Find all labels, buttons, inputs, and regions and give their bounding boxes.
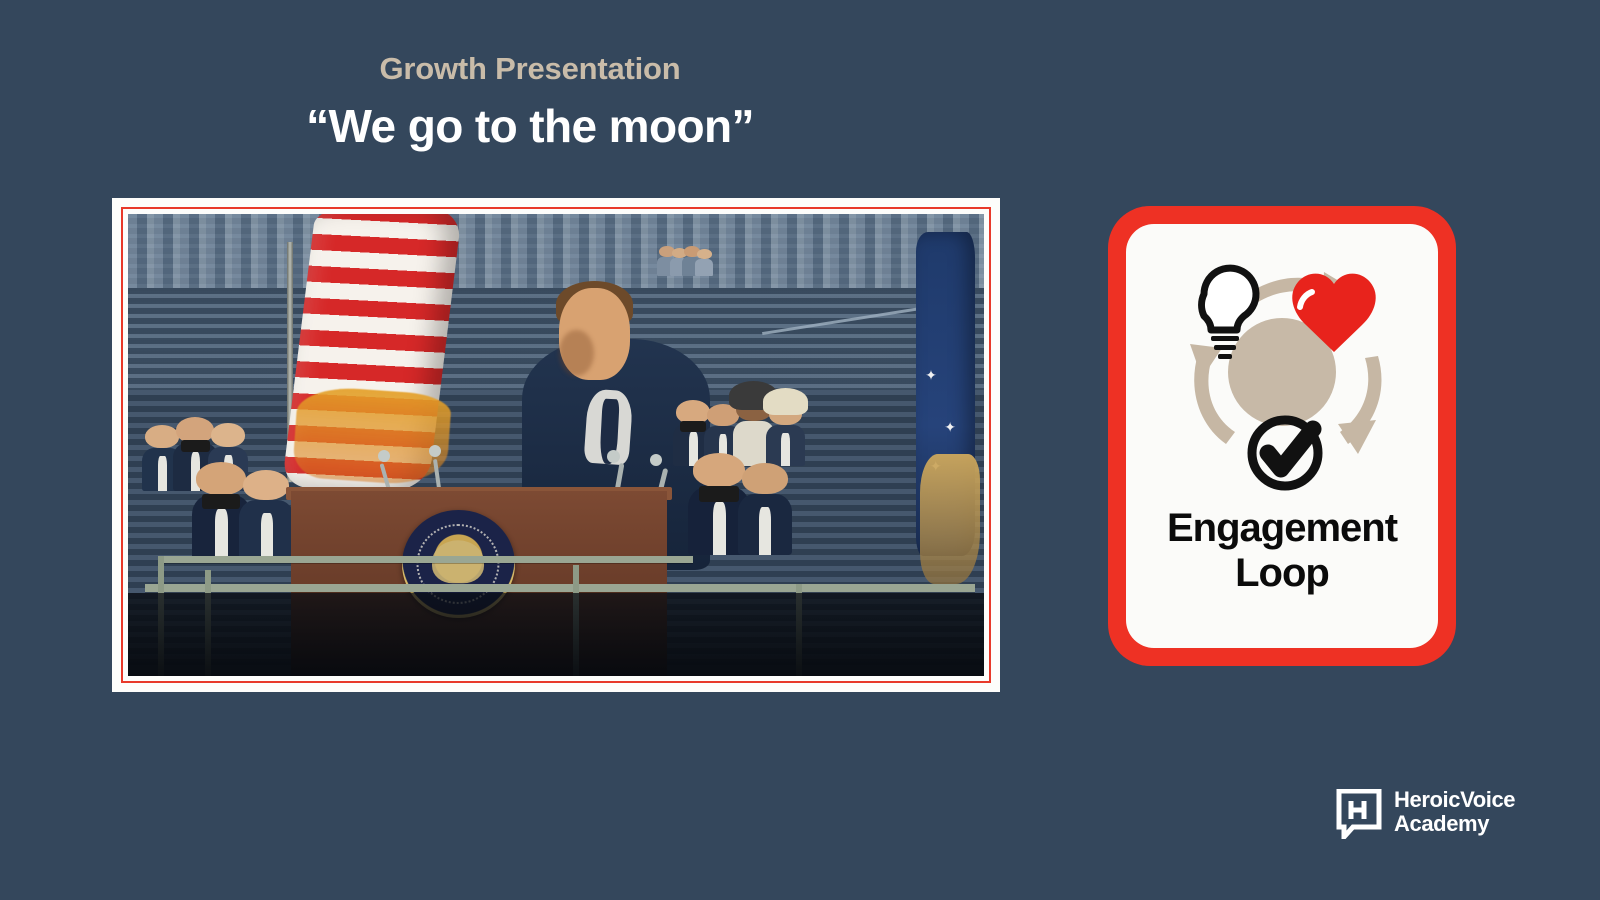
person-head <box>769 402 802 425</box>
person-head <box>196 462 246 495</box>
person-head <box>742 463 788 494</box>
slide-headline: “We go to the moon” <box>0 100 1060 153</box>
jfk-rice-moon-speech-photo: ✦ ✦ ✦ <box>128 214 984 676</box>
crowd-row-front-right <box>693 445 785 555</box>
stage-foreground-shadow <box>128 593 984 676</box>
jfk-face-shadow <box>559 330 593 376</box>
person-head <box>693 453 745 487</box>
logo-wordmark: HeroicVoice Academy <box>1394 788 1515 836</box>
person-shirt <box>215 509 228 560</box>
speech-bubble-h-icon <box>1336 789 1382 835</box>
person-shirt <box>261 513 273 560</box>
engagement-loop-title: Engagement Loop <box>1126 506 1438 596</box>
crowd-row-upper-right <box>659 242 709 276</box>
flag-star-icon: ✦ <box>944 420 956 434</box>
person-head <box>676 400 710 424</box>
crowd-row-left-front <box>196 454 286 560</box>
person-shirt <box>158 456 167 490</box>
photo-accent-rule: ✦ ✦ ✦ <box>121 207 991 683</box>
person-head <box>697 249 712 259</box>
person-body <box>695 259 713 276</box>
blue-flag-gold-fringe <box>920 454 980 583</box>
person-body <box>239 500 293 560</box>
logo-wordmark-line2: Academy <box>1394 812 1515 836</box>
crowd-person <box>243 470 289 560</box>
person-body <box>738 494 792 555</box>
check-circle-icon <box>1252 420 1318 486</box>
slide-canvas: Growth Presentation “We go to the moon” … <box>0 0 1600 900</box>
engagement-loop-diagram <box>1142 248 1422 504</box>
stage-railing <box>162 556 693 563</box>
sunglasses-icon <box>181 440 210 452</box>
person-shirt <box>713 502 727 555</box>
distant-crowd-band <box>128 214 984 288</box>
photo-frame: ✦ ✦ ✦ <box>112 198 1000 692</box>
sunglasses-icon <box>202 494 240 510</box>
engagement-loop-title-line2: Loop <box>1126 551 1438 596</box>
engagement-loop-card-surface: Engagement Loop <box>1126 224 1438 648</box>
microphone-head <box>378 450 390 462</box>
engagement-loop-card[interactable]: Engagement Loop <box>1108 206 1456 666</box>
person-head <box>145 425 179 448</box>
sunglasses-icon <box>699 486 739 502</box>
person-head <box>243 470 289 500</box>
crowd-person <box>697 249 712 276</box>
stage-railing <box>145 584 975 592</box>
engagement-loop-title-line1: Engagement <box>1126 506 1438 551</box>
flag-gold-fringe <box>292 384 452 487</box>
straw-hat-icon <box>763 388 808 415</box>
slide-kicker: Growth Presentation <box>0 52 1060 86</box>
heroicvoice-academy-logo[interactable]: HeroicVoice Academy <box>1336 788 1515 836</box>
logo-wordmark-line1: HeroicVoice <box>1394 788 1515 812</box>
person-shirt <box>759 507 771 555</box>
flag-star-icon: ✦ <box>925 368 937 382</box>
sunglasses-icon <box>680 421 706 432</box>
person-head <box>211 423 245 447</box>
crowd-person <box>742 463 788 555</box>
person-head <box>176 417 214 443</box>
microphone-head <box>607 450 620 463</box>
